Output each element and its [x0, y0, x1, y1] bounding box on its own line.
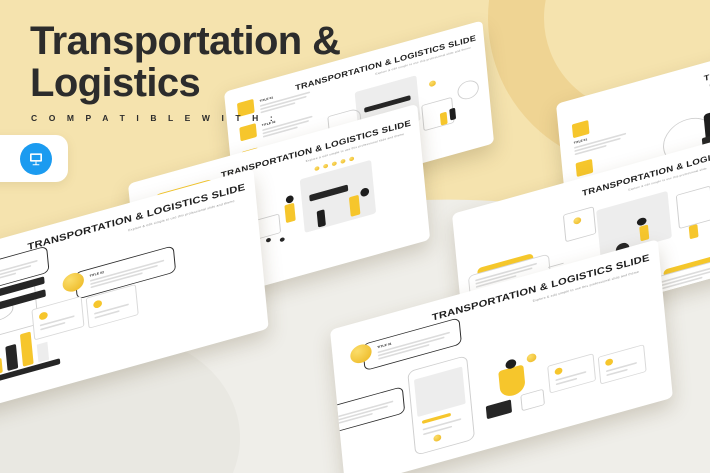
compatible-apps-card — [0, 135, 68, 182]
phone-mockup — [407, 355, 475, 456]
preview-stage: TRANSPORTATION & LOGISTICS SLIDE Explore… — [0, 0, 710, 473]
compatible-with-label: C O M P A T I B L E W I T H : — [31, 113, 277, 123]
page-title-line2: Logistics — [30, 62, 450, 104]
page-title: Transportation & Logistics — [30, 20, 450, 104]
slide-feature-row: TITLE 01 — [572, 110, 627, 157]
page-title-line1: Transportation & — [30, 19, 340, 63]
feature-icon — [239, 123, 257, 141]
keynote-icon[interactable] — [20, 143, 52, 175]
info-card — [598, 344, 647, 384]
slide-feature-row: TITLE 02 — [330, 386, 405, 443]
